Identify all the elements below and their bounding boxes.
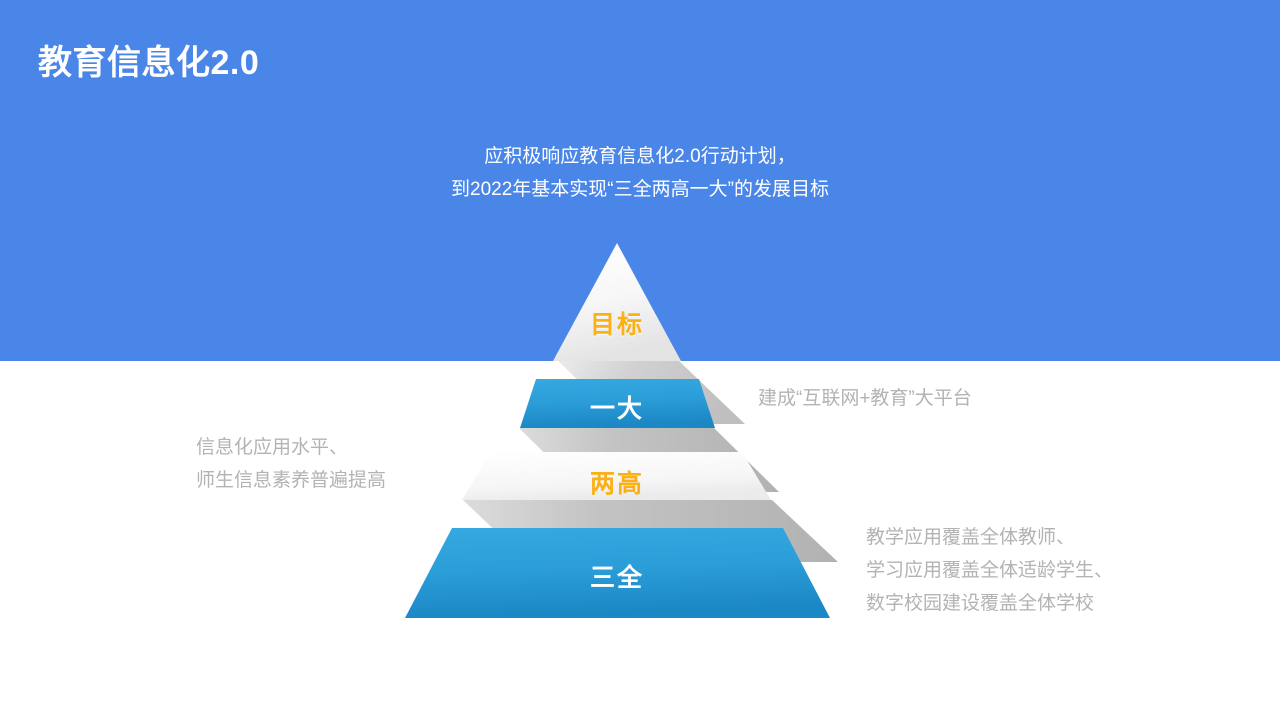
note-lianggao-line-2: 师生信息素养普遍提高 — [196, 464, 386, 497]
note-sanquan-line-3: 数字校园建设覆盖全体学校 — [866, 587, 1113, 620]
pyramid-label-apex: 目标 — [0, 305, 1234, 341]
note-lianggao-line-1: 信息化应用水平、 — [196, 431, 386, 464]
subtitle-line-1: 应积极响应教育信息化2.0行动计划， — [0, 140, 1280, 173]
slide-canvas: 教育信息化2.0 应积极响应教育信息化2.0行动计划， 到2022年基本实现“三… — [0, 0, 1280, 720]
note-sanquan: 教学应用覆盖全体教师、 学习应用覆盖全体适龄学生、 数字校园建设覆盖全体学校 — [866, 521, 1113, 620]
shadow-lianggao — [463, 500, 838, 562]
note-yida: 建成“互联网+教育”大平台 — [758, 382, 972, 415]
note-sanquan-line-2: 学习应用覆盖全体适龄学生、 — [866, 554, 1113, 587]
note-yida-line-1: 建成“互联网+教育”大平台 — [758, 382, 972, 415]
note-lianggao: 信息化应用水平、 师生信息素养普遍提高 — [196, 431, 386, 497]
page-title: 教育信息化2.0 — [38, 35, 259, 84]
note-sanquan-line-1: 教学应用覆盖全体教师、 — [866, 521, 1113, 554]
subtitle-block: 应积极响应教育信息化2.0行动计划， 到2022年基本实现“三全两高一大”的发展… — [0, 140, 1280, 206]
subtitle-line-2: 到2022年基本实现“三全两高一大”的发展目标 — [0, 173, 1280, 206]
pyramid-label-yida: 一大 — [0, 389, 1234, 425]
pyramid-label-lianggao: 两高 — [0, 464, 1234, 500]
